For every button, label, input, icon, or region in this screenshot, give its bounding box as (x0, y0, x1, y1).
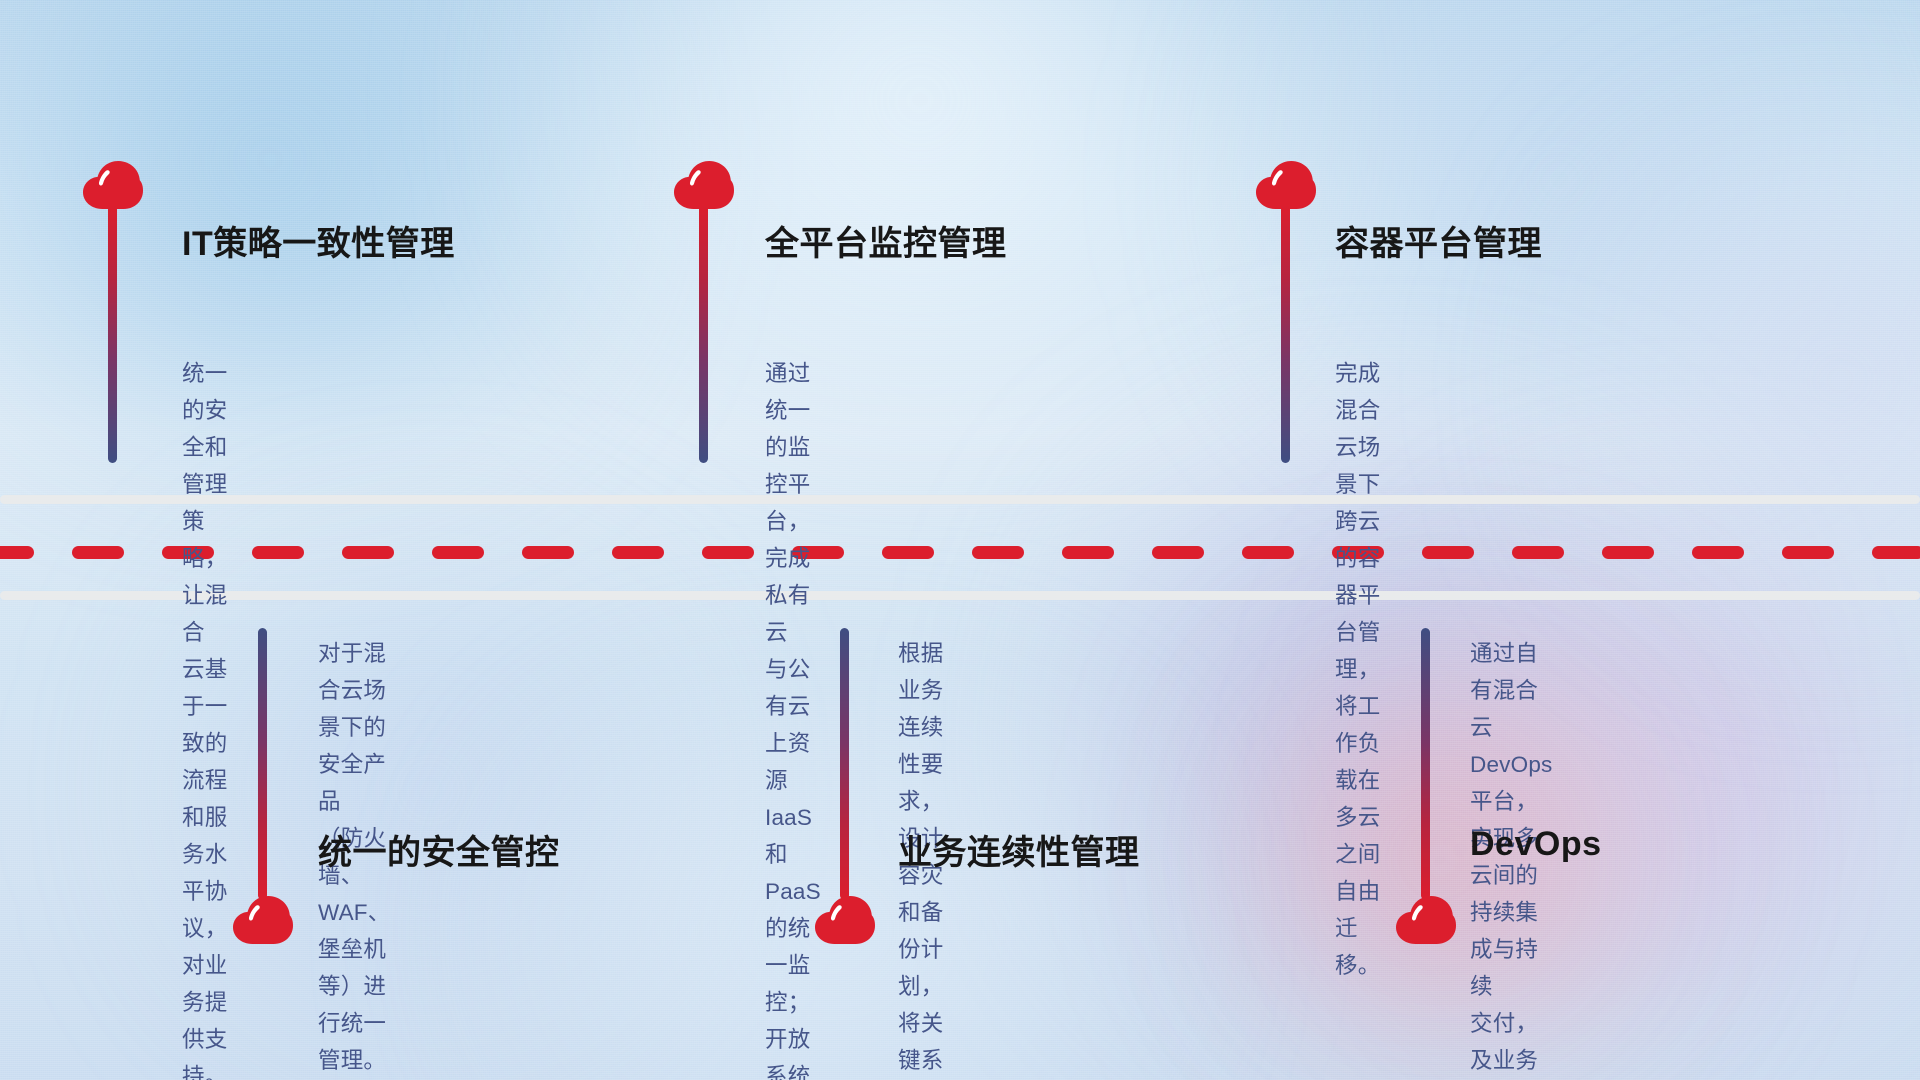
card-title: 全平台监控管理 (765, 216, 1007, 265)
divider-dash (612, 546, 664, 559)
connector-stem (699, 205, 708, 463)
divider-dash (972, 546, 1024, 559)
divider-dash (432, 546, 484, 559)
divider-dash (702, 546, 754, 559)
divider-dash (1872, 546, 1920, 559)
divider-dash (1782, 546, 1834, 559)
cloud-icon (1255, 160, 1317, 210)
divider-dash (1062, 546, 1114, 559)
card-title: DevOps (1470, 825, 1602, 864)
cloud-icon (673, 160, 735, 210)
divider-dash (1512, 546, 1564, 559)
divider-dash (72, 546, 124, 559)
card-description: 通过统一的监控平台，完成私有云 与公有云上资源IaaS和PaaS的统 一监控；开… (765, 355, 821, 1080)
card-title: IT策略一致性管理 (182, 216, 455, 265)
divider-rule-bottom (0, 591, 1920, 600)
divider-dash (1422, 546, 1474, 559)
divider-rule-top (0, 495, 1920, 504)
connector-stem (258, 628, 267, 900)
card-title: 业务连续性管理 (898, 825, 1140, 874)
divider-dash (882, 546, 934, 559)
divider-dash (1692, 546, 1744, 559)
divider-dash (252, 546, 304, 559)
cloud-icon (1395, 895, 1457, 945)
connector-stem (840, 628, 849, 900)
divider-dash (342, 546, 394, 559)
connector-stem (1421, 628, 1430, 900)
connector-stem (108, 205, 117, 463)
divider-dash (1242, 546, 1294, 559)
card-description: 完成混合云场景下跨云的容器平 台管理，将工作负载在多云之间 自由迁移。 (1335, 355, 1380, 984)
cloud-icon (814, 895, 876, 945)
divider-dash (0, 546, 34, 559)
connector-stem (1281, 205, 1290, 463)
divider-dash (1602, 546, 1654, 559)
cloud-icon (232, 895, 294, 945)
card-description: 统一的安全和管理策略，让混合 云基于一致的流程和服务水平协 议，对业务提供支持。 (182, 355, 227, 1080)
card-title: 容器平台管理 (1335, 216, 1542, 265)
card-title: 统一的安全管控 (318, 825, 560, 874)
divider-dash (1152, 546, 1204, 559)
cloud-icon (82, 160, 144, 210)
divider-dash (522, 546, 574, 559)
